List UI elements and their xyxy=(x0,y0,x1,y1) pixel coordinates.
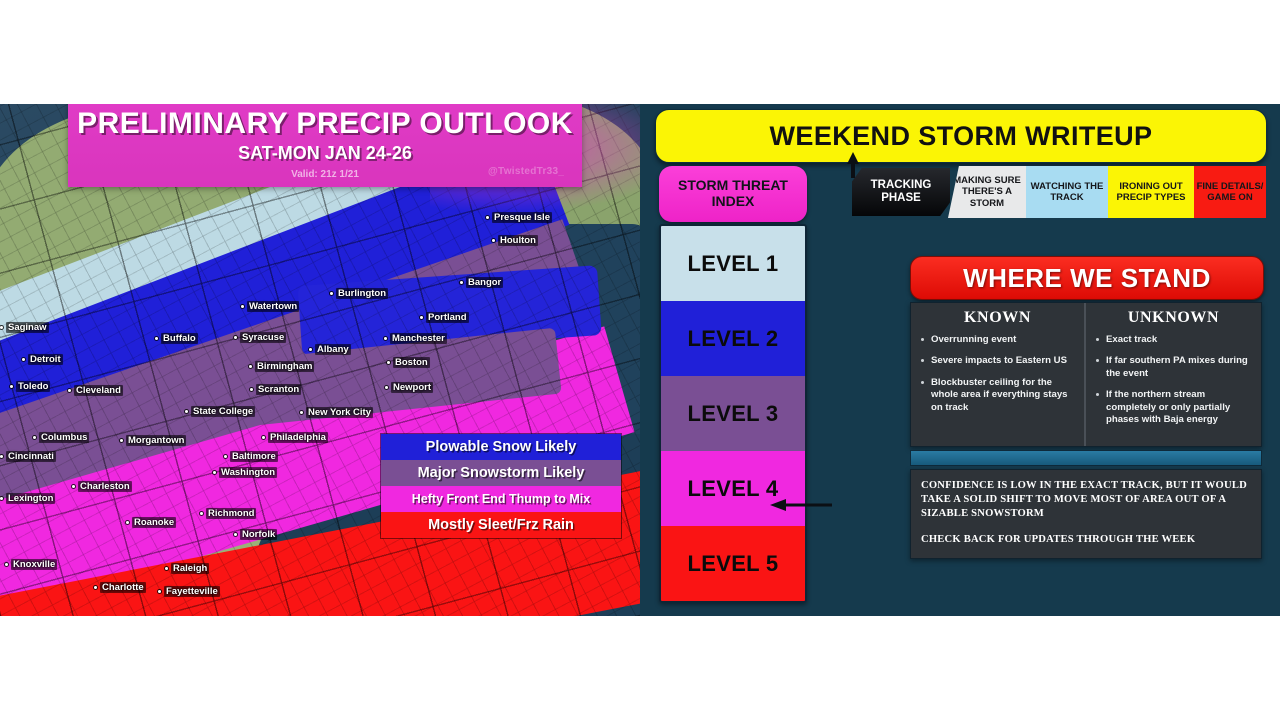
current-stage-arrow-icon xyxy=(846,152,860,178)
legend-row: Major Snowstorm Likely xyxy=(381,460,621,486)
tracking-stage-watching-the-track[interactable]: WATCHING THE TRACK xyxy=(1026,166,1108,218)
city-label: Fayetteville xyxy=(158,586,220,597)
known-unknown-table: KNOWN Overrunning eventSevere impacts to… xyxy=(910,302,1262,447)
city-name: Columbus xyxy=(39,432,89,443)
city-name: Houlton xyxy=(498,235,538,246)
city-marker-dot xyxy=(300,411,303,414)
city-label: Scranton xyxy=(250,384,301,395)
confidence-note-box: CONFIDENCE IS LOW IN THE EXACT TRACK, BU… xyxy=(910,469,1262,559)
legend-row: Mostly Sleet/Frz Rain xyxy=(381,512,621,538)
legend-row: Hefty Front End Thump to Mix xyxy=(381,486,621,512)
city-marker-dot xyxy=(309,348,312,351)
city-name: Buffalo xyxy=(161,333,198,344)
city-name: Morgantown xyxy=(126,435,186,446)
city-name: Bangor xyxy=(466,277,503,288)
city-marker-dot xyxy=(0,326,3,329)
unknown-item: If far southern PA mixes during the even… xyxy=(1094,355,1253,380)
city-name: Charlotte xyxy=(100,582,146,593)
level-4-pointer-arrow xyxy=(770,498,834,512)
map-subtitle: SAT-MON JAN 24-26 xyxy=(68,143,582,164)
known-column: KNOWN Overrunning eventSevere impacts to… xyxy=(911,303,1086,446)
city-marker-dot xyxy=(5,563,8,566)
unknown-column: UNKNOWN Exact trackIf far southern PA mi… xyxy=(1086,303,1261,446)
city-name: Raleigh xyxy=(171,563,209,574)
city-label: Toledo xyxy=(10,381,50,392)
city-marker-dot xyxy=(387,361,390,364)
city-marker-dot xyxy=(0,497,3,500)
city-name: Portland xyxy=(426,312,469,323)
city-marker-dot xyxy=(10,385,13,388)
unknown-item: If the northern stream completely or onl… xyxy=(1094,389,1253,426)
writeup-panel: WEEKEND STORM WRITEUP STORM THREAT INDEX… xyxy=(640,104,1280,616)
city-label: Knoxville xyxy=(5,559,57,570)
city-marker-dot xyxy=(72,485,75,488)
precip-outlook-map[interactable]: Presque IsleHoultonBangorBurlingtonPortl… xyxy=(0,104,640,616)
city-name: Baltimore xyxy=(230,451,278,462)
city-label: Birmingham xyxy=(249,361,314,372)
city-label: Bangor xyxy=(460,277,503,288)
city-marker-dot xyxy=(213,471,216,474)
tracking-stage-making-sure[interactable]: MAKING SURE THERE'S A STORM xyxy=(948,166,1026,218)
city-marker-dot xyxy=(120,439,123,442)
sti-level-row[interactable]: LEVEL 3 xyxy=(661,376,805,451)
city-name: Lexington xyxy=(6,493,55,504)
known-item: Overrunning event xyxy=(919,334,1076,346)
city-marker-dot xyxy=(224,455,227,458)
confidence-note-line2: CHECK BACK FOR UPDATES THROUGH THE WEEK xyxy=(921,533,1251,547)
tracking-phase-badge: TRACKING PHASE xyxy=(852,168,950,216)
city-name: Scranton xyxy=(256,384,301,395)
city-name: Cincinnati xyxy=(6,451,56,462)
city-marker-dot xyxy=(126,521,129,524)
city-label: Boston xyxy=(387,357,430,368)
city-label: Houlton xyxy=(492,235,538,246)
city-name: Norfolk xyxy=(240,529,277,540)
tracking-stage-fine-details-game-on[interactable]: FINE DETAILS/ GAME ON xyxy=(1194,166,1266,218)
city-name: Knoxville xyxy=(11,559,57,570)
city-marker-dot xyxy=(68,389,71,392)
storm-threat-index: STORM THREAT INDEX LEVEL 1LEVEL 2LEVEL 3… xyxy=(659,166,807,603)
writeup-banner-label: WEEKEND STORM WRITEUP xyxy=(770,121,1153,152)
accent-divider-bar xyxy=(910,450,1262,466)
city-name: Syracuse xyxy=(240,332,286,343)
where-we-stand-header: WHERE WE STAND xyxy=(910,256,1264,300)
unknown-list: Exact trackIf far southern PA mixes duri… xyxy=(1094,334,1253,427)
tracking-phase-bar: TRACKING PHASE MAKING SURE THERE'S A STO… xyxy=(852,166,1264,218)
city-name: Charleston xyxy=(78,481,132,492)
city-name: Burlington xyxy=(336,288,388,299)
tracking-badge-line2: PHASE xyxy=(881,192,921,205)
watermark: @TwistedTr33_ xyxy=(488,166,564,177)
city-label: Columbus xyxy=(33,432,89,443)
weather-graphic-page: Presque IsleHoultonBangorBurlingtonPortl… xyxy=(0,0,1280,720)
confidence-note-line1: CONFIDENCE IS LOW IN THE EXACT TRACK, BU… xyxy=(921,479,1251,522)
city-label: Baltimore xyxy=(224,451,278,462)
map-title: PRELIMINARY PRECIP OUTLOOK xyxy=(68,107,582,141)
city-label: Buffalo xyxy=(155,333,198,344)
sti-level-row[interactable]: LEVEL 2 xyxy=(661,301,805,376)
city-marker-dot xyxy=(234,336,237,339)
tracking-badge-line1: TRACKING xyxy=(871,179,932,192)
city-name: Toledo xyxy=(16,381,50,392)
city-name: State College xyxy=(191,406,255,417)
city-marker-dot xyxy=(249,365,252,368)
where-we-stand-section: WHERE WE STAND KNOWN Overrunning eventSe… xyxy=(910,256,1262,559)
city-marker-dot xyxy=(22,358,25,361)
city-label: Washington xyxy=(213,467,277,478)
sti-level-row[interactable]: LEVEL 1 xyxy=(661,226,805,301)
unknown-item: Exact track xyxy=(1094,334,1253,346)
city-label: Charlotte xyxy=(94,582,146,593)
city-label: Philadelphia xyxy=(262,432,328,443)
city-marker-dot xyxy=(0,455,3,458)
city-name: Birmingham xyxy=(255,361,314,372)
city-name: Albany xyxy=(315,344,351,355)
city-name: Detroit xyxy=(28,354,63,365)
unknown-heading: UNKNOWN xyxy=(1094,309,1253,327)
sti-header-line1: STORM THREAT xyxy=(678,178,788,194)
city-label: Watertown xyxy=(241,301,299,312)
known-list: Overrunning eventSevere impacts to Easte… xyxy=(919,334,1076,414)
city-label: Manchester xyxy=(384,333,447,344)
city-label: Portland xyxy=(420,312,469,323)
city-marker-dot xyxy=(330,292,333,295)
known-item: Blockbuster ceiling for the whole area i… xyxy=(919,377,1076,414)
city-marker-dot xyxy=(94,586,97,589)
map-legend: Plowable Snow LikelyMajor Snowstorm Like… xyxy=(381,434,621,538)
city-marker-dot xyxy=(460,281,463,284)
city-marker-dot xyxy=(384,337,387,340)
city-name: Boston xyxy=(393,357,430,368)
city-name: Roanoke xyxy=(132,517,176,528)
graphic-band: Presque IsleHoultonBangorBurlingtonPortl… xyxy=(0,104,1280,616)
known-item: Severe impacts to Eastern US xyxy=(919,355,1076,367)
city-label: State College xyxy=(185,406,255,417)
city-name: Newport xyxy=(391,382,433,393)
city-marker-dot xyxy=(486,216,489,219)
city-label: Newport xyxy=(385,382,433,393)
city-marker-dot xyxy=(234,533,237,536)
city-name: Washington xyxy=(219,467,277,478)
city-label: Saginaw xyxy=(0,322,49,333)
sti-header-line2: INDEX xyxy=(712,194,755,210)
city-label: New York City xyxy=(300,407,373,418)
city-marker-dot xyxy=(200,512,203,515)
city-name: Fayetteville xyxy=(164,586,220,597)
city-marker-dot xyxy=(155,337,158,340)
city-name: Cleveland xyxy=(74,385,123,396)
city-marker-dot xyxy=(385,386,388,389)
city-marker-dot xyxy=(185,410,188,413)
city-label: Cincinnati xyxy=(0,451,56,462)
storm-threat-index-levels: LEVEL 1LEVEL 2LEVEL 3LEVEL 4LEVEL 5 xyxy=(659,224,807,603)
city-label: Burlington xyxy=(330,288,388,299)
city-marker-dot xyxy=(262,436,265,439)
known-heading: KNOWN xyxy=(919,309,1076,327)
city-label: Syracuse xyxy=(234,332,286,343)
city-label: Richmond xyxy=(200,508,256,519)
city-name: Philadelphia xyxy=(268,432,328,443)
city-marker-dot xyxy=(420,316,423,319)
tracking-stage-ironing-out-precip-types[interactable]: IRONING OUT PRECIP TYPES xyxy=(1108,166,1194,218)
city-label: Norfolk xyxy=(234,529,277,540)
city-name: Manchester xyxy=(390,333,447,344)
city-label: Detroit xyxy=(22,354,63,365)
where-we-stand-title: WHERE WE STAND xyxy=(963,263,1211,294)
storm-threat-index-header: STORM THREAT INDEX xyxy=(659,166,807,222)
sti-level-row[interactable]: LEVEL 5 xyxy=(661,526,805,601)
city-name: Watertown xyxy=(247,301,299,312)
city-marker-dot xyxy=(492,239,495,242)
writeup-banner: WEEKEND STORM WRITEUP xyxy=(655,109,1267,163)
city-marker-dot xyxy=(241,305,244,308)
city-label: Albany xyxy=(309,344,351,355)
city-marker-dot xyxy=(250,388,253,391)
city-label: Lexington xyxy=(0,493,55,504)
city-name: Saginaw xyxy=(6,322,49,333)
city-label: Cleveland xyxy=(68,385,123,396)
city-label: Morgantown xyxy=(120,435,186,446)
city-name: New York City xyxy=(306,407,373,418)
city-marker-dot xyxy=(158,590,161,593)
city-marker-dot xyxy=(165,567,168,570)
sti-level-row[interactable]: LEVEL 4 xyxy=(661,451,805,526)
city-marker-dot xyxy=(33,436,36,439)
city-name: Richmond xyxy=(206,508,256,519)
city-label: Roanoke xyxy=(126,517,176,528)
legend-row: Plowable Snow Likely xyxy=(381,434,621,460)
city-label: Raleigh xyxy=(165,563,209,574)
city-label: Charleston xyxy=(72,481,132,492)
